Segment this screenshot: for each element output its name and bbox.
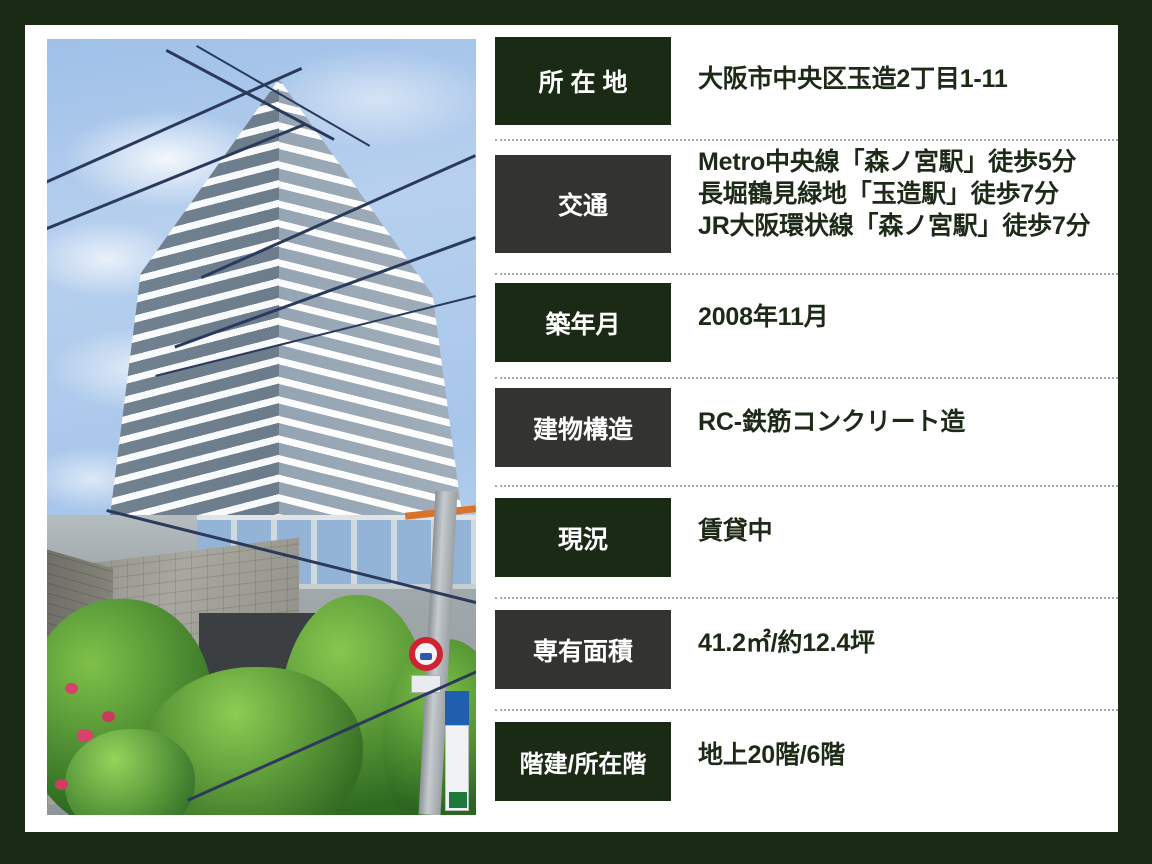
blue-direction-sign <box>445 691 469 725</box>
spec-label-transit: 交通 <box>495 155 671 253</box>
flower <box>77 729 93 742</box>
transit-line-2: 長堀鶴見緑地「玉造駅」徒歩7分 <box>698 178 1118 210</box>
spec-label-built-date: 築年月 <box>495 283 671 362</box>
flower <box>65 683 78 694</box>
spec-value-status: 賃貸中 <box>671 487 1118 547</box>
spec-label-floors: 階建/所在階 <box>495 722 671 801</box>
photo-column <box>25 25 477 832</box>
transit-line-3: JR大阪環状線「森ノ宮駅」徒歩7分 <box>698 210 1118 242</box>
spec-label-structure: 建物構造 <box>495 388 671 467</box>
spec-value-transit: Metro中央線「森ノ宮駅」徒歩5分 長堀鶴見緑地「玉造駅」徒歩7分 JR大阪環… <box>671 141 1118 242</box>
spec-table: 所在地 大阪市中央区玉造2丁目1-11 交通 Metro中央線「森ノ宮駅」徒歩5… <box>477 25 1118 832</box>
spec-label-status: 現況 <box>495 498 671 577</box>
spec-value-floors: 地上20階/6階 <box>671 711 1118 771</box>
spec-value-structure: RC-鉄筋コンクリート造 <box>671 379 1118 438</box>
flower <box>102 711 115 722</box>
building-exterior-photo <box>47 39 476 815</box>
spec-row-built-date: 築年月 2008年11月 <box>495 275 1118 379</box>
outer-frame: 所在地 大阪市中央区玉造2丁目1-11 交通 Metro中央線「森ノ宮駅」徒歩5… <box>0 0 1152 864</box>
spec-value-built-date: 2008年11月 <box>671 275 1118 333</box>
no-entry-sign-icon <box>409 637 443 671</box>
transit-line-1: Metro中央線「森ノ宮駅」徒歩5分 <box>698 146 1118 178</box>
spec-row-transit: 交通 Metro中央線「森ノ宮駅」徒歩5分 長堀鶴見緑地「玉造駅」徒歩7分 JR… <box>495 141 1118 275</box>
spec-value-address: 大阪市中央区玉造2丁目1-11 <box>671 37 1118 95</box>
spec-label-exclusive-area: 専有面積 <box>495 610 671 689</box>
spec-row-floors: 階建/所在階 地上20階/6階 <box>495 711 1118 815</box>
spec-row-structure: 建物構造 RC-鉄筋コンクリート造 <box>495 379 1118 487</box>
spec-value-exclusive-area: 41.2㎡/約12.4坪 <box>671 599 1118 659</box>
vertical-advertising-sign <box>445 725 469 811</box>
spec-row-address: 所在地 大阪市中央区玉造2丁目1-11 <box>495 37 1118 141</box>
spec-label-address: 所在地 <box>495 37 671 125</box>
spec-row-exclusive-area: 専有面積 41.2㎡/約12.4坪 <box>495 599 1118 711</box>
property-spec-card: 所在地 大阪市中央区玉造2丁目1-11 交通 Metro中央線「森ノ宮駅」徒歩5… <box>25 25 1118 832</box>
flower <box>55 779 68 790</box>
spec-row-status: 現況 賃貸中 <box>495 487 1118 599</box>
